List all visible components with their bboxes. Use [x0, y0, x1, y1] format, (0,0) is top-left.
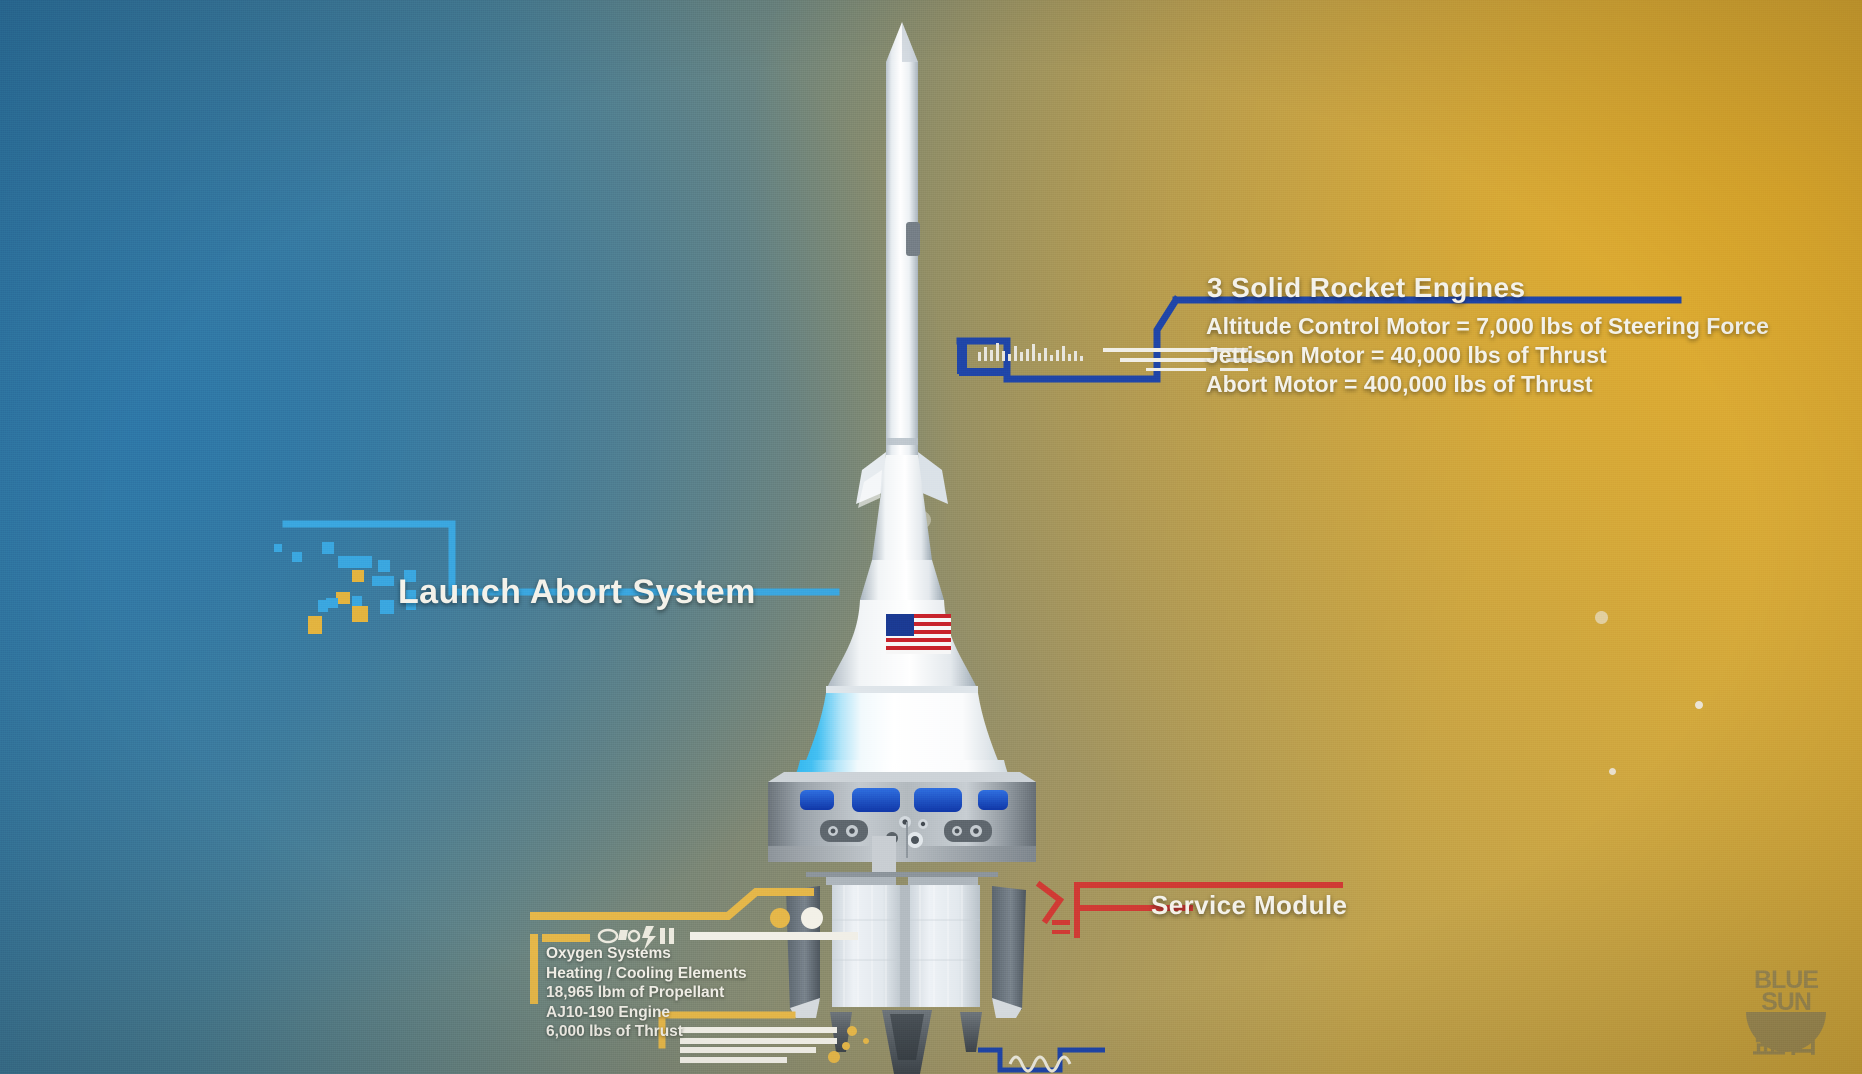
spec-line: Jettison Motor = 40,000 lbs of Thrust: [1206, 341, 1769, 370]
spec-line: Heating / Cooling Elements: [546, 964, 747, 984]
waveform-bars: [978, 343, 1083, 361]
label-service-module: Service Module: [1151, 890, 1347, 921]
solid-rocket-engines-specs: Altitude Control Motor = 7,000 lbs of St…: [1206, 312, 1769, 399]
spec-line: Altitude Control Motor = 7,000 lbs of St…: [1206, 312, 1769, 341]
blue-sun-watermark: BLUE SUN 蓝日: [1732, 958, 1840, 1058]
bottom-waveform: [978, 1050, 1105, 1071]
dust-particle: [1595, 611, 1608, 624]
spec-line: Abort Motor = 400,000 lbs of Thrust: [1206, 370, 1769, 399]
label-launch-abort-system: Launch Abort System: [398, 573, 756, 612]
sm-spec-dots: [770, 907, 823, 929]
spec-line: 6,000 lbs of Thrust: [546, 1022, 747, 1042]
watermark-line2: SUN: [1761, 988, 1811, 1016]
diagram-canvas: Launch Abort System 3 Solid Rocket Engin…: [0, 0, 1862, 1074]
spec-line: Oxygen Systems: [546, 944, 747, 964]
service-module-specs: Oxygen Systems Heating / Cooling Element…: [546, 944, 747, 1042]
las-pixel-squares: [274, 542, 416, 634]
spec-line: 18,965 lbm of Propellant: [546, 983, 747, 1003]
callout-decorations: [0, 0, 1862, 1074]
dash-lines-mid: [690, 932, 858, 940]
watermark-line3: 蓝日: [1752, 1021, 1820, 1058]
dust-particle: [1609, 768, 1616, 775]
dust-particle: [1695, 701, 1703, 709]
spec-line: AJ10-190 Engine: [546, 1003, 747, 1023]
label-solid-rocket-engines: 3 Solid Rocket Engines: [1207, 272, 1525, 304]
service-module-dash: [1052, 920, 1070, 934]
